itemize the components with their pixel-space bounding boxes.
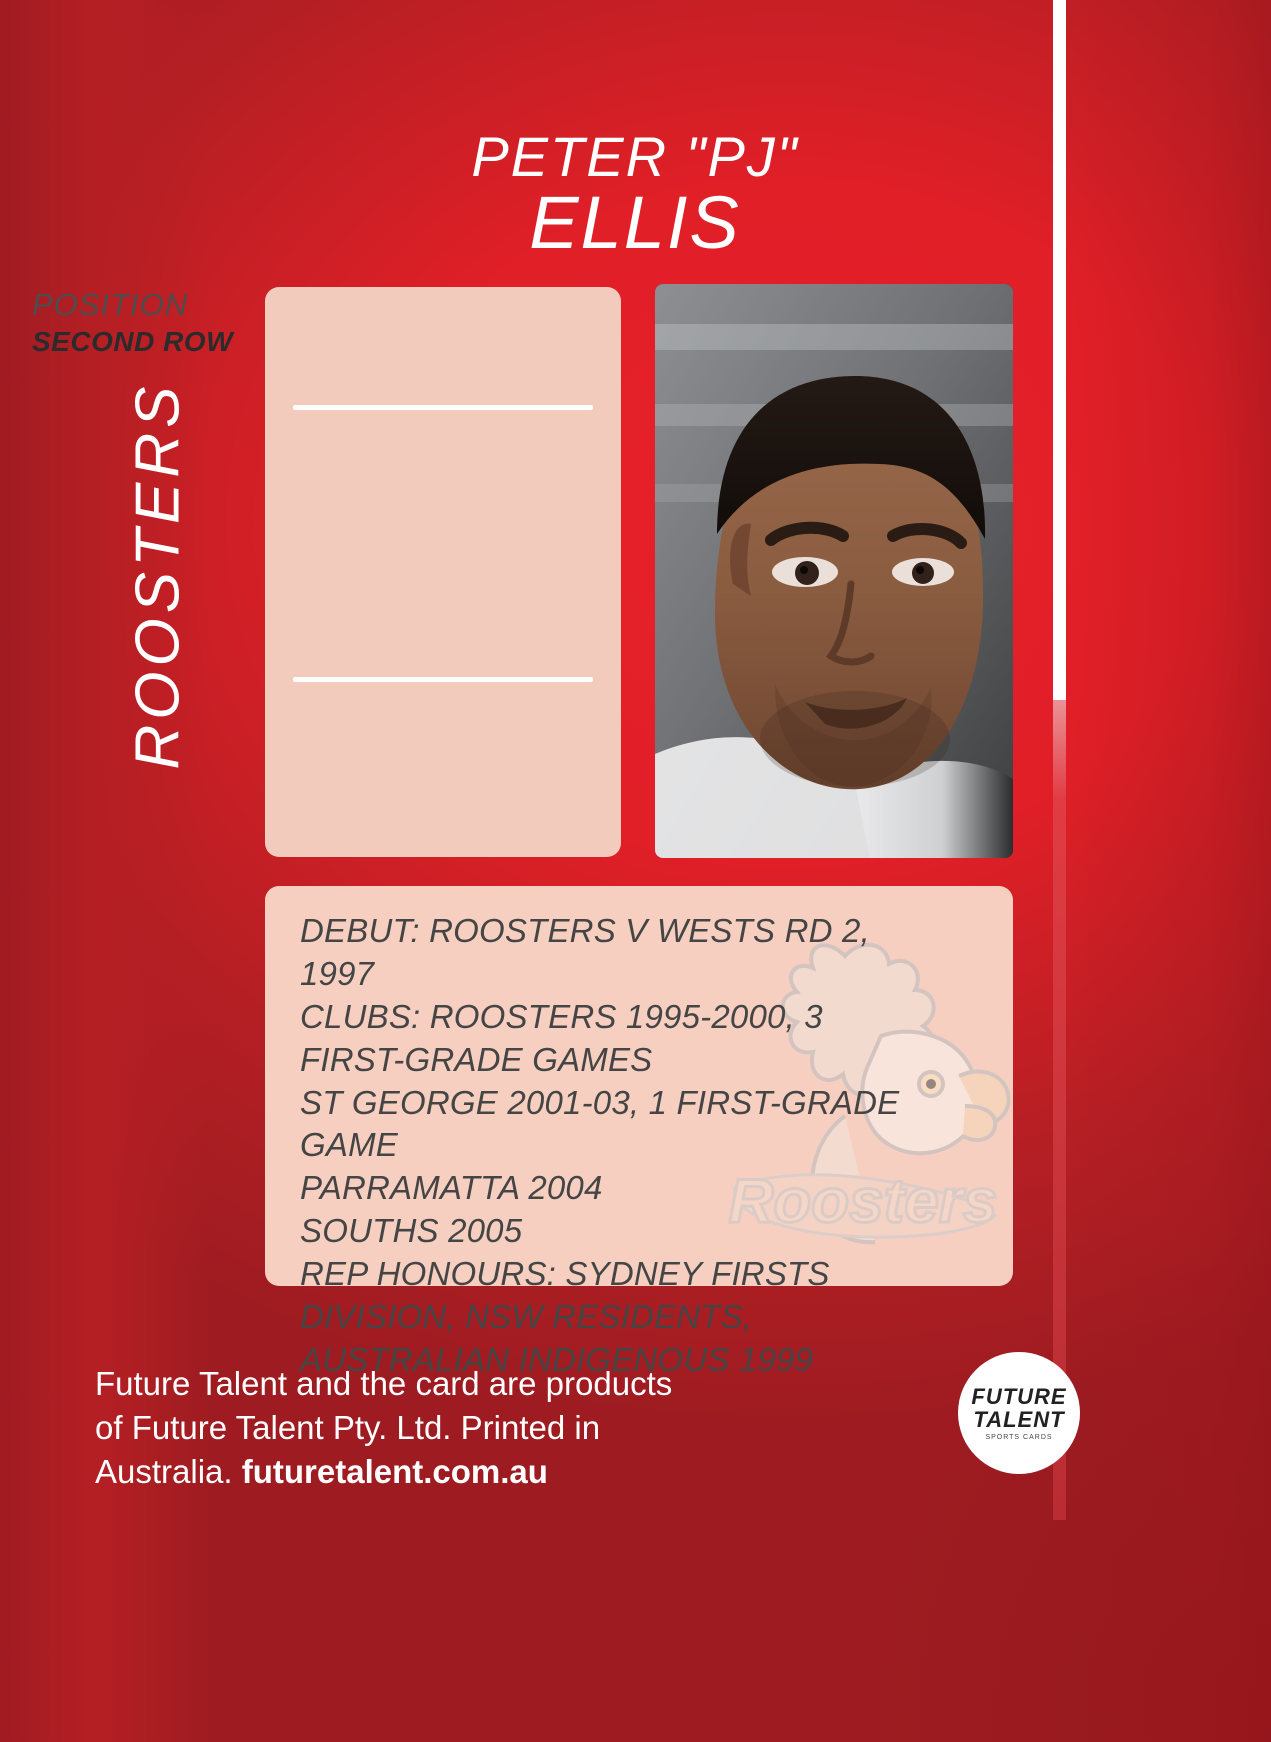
player-name: PETER "PJ" ELLIS	[250, 128, 1020, 261]
stats-line: PARRAMATTA 2004	[300, 1167, 1000, 1210]
stats-line: REP HONOURS: SYDNEY FIRSTS	[300, 1253, 1000, 1296]
position-panel	[265, 287, 621, 857]
stats-line: FIRST-GRADE GAMES	[300, 1039, 1000, 1082]
footer-line-1: Future Talent and the card are products	[95, 1362, 735, 1406]
future-talent-logo: FUTURE TALENT SPORTS CARDS	[958, 1352, 1080, 1474]
logo-line-2: TALENT	[973, 1408, 1064, 1431]
trading-card: ROOSTERS PETER "PJ" ELLIS POSITION SECON…	[0, 0, 1271, 1742]
stats-line: CLUBS: ROOSTERS 1995-2000, 3	[300, 996, 1000, 1039]
position-label: POSITION	[32, 287, 188, 323]
stats-line: GAME	[300, 1124, 1000, 1167]
stats-line: DEBUT: ROOSTERS V WESTS RD 2,	[300, 910, 1000, 953]
stats-text-block: DEBUT: ROOSTERS V WESTS RD 2, 1997 CLUBS…	[300, 910, 1000, 1382]
right-edge-shading	[1066, 0, 1271, 1742]
stats-line: SOUTHS 2005	[300, 1210, 1000, 1253]
footer-line-2: of Future Talent Pty. Ltd. Printed in	[95, 1406, 735, 1450]
position-value: SECOND ROW	[32, 326, 233, 358]
right-white-bar	[1053, 0, 1066, 700]
player-first-name: PETER "PJ"	[250, 128, 1020, 185]
team-name-vertical: ROOSTERS	[123, 366, 194, 786]
logo-line-3: SPORTS CARDS	[985, 1434, 1052, 1441]
footer-copyright: Future Talent and the card are products …	[95, 1362, 735, 1495]
stats-line: ST GEORGE 2001-03, 1 FIRST-GRADE	[300, 1082, 1000, 1125]
footer-line-3: Australia. futuretalent.com.au	[95, 1450, 735, 1494]
footer-country: Australia.	[95, 1453, 242, 1490]
stats-line: DIVISION, NSW RESIDENTS,	[300, 1296, 1000, 1339]
logo-line-1: FUTURE	[971, 1385, 1066, 1408]
position-rule-bottom	[293, 677, 593, 682]
player-last-name: ELLIS	[250, 185, 1020, 260]
stats-line: 1997	[300, 953, 1000, 996]
player-portrait-image	[655, 284, 1013, 858]
player-photo	[655, 284, 1013, 858]
position-rule-top	[293, 405, 593, 410]
footer-website-link[interactable]: futuretalent.com.au	[242, 1453, 548, 1490]
